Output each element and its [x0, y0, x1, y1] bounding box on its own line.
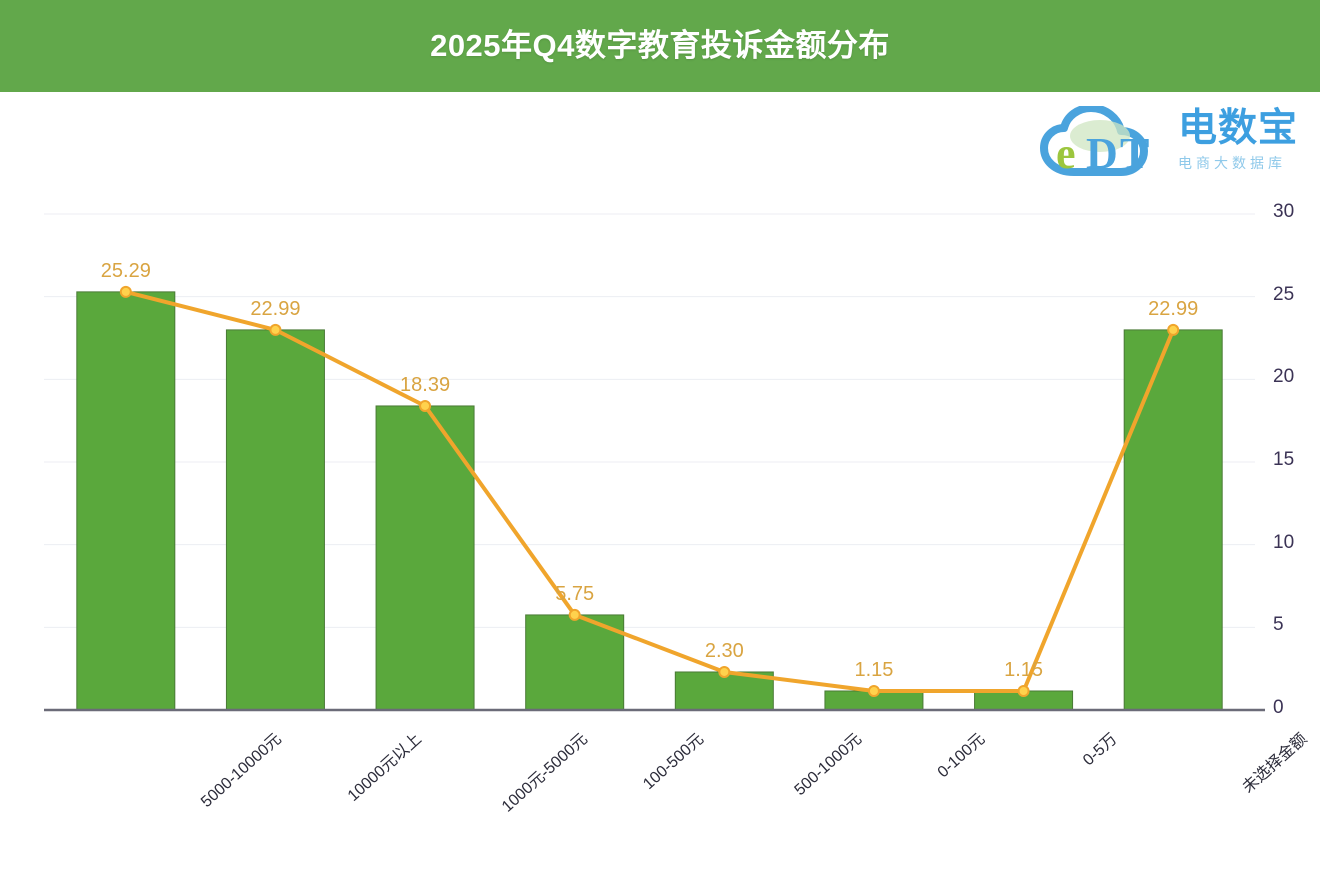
bar-value-label: 25.29 [66, 260, 186, 283]
bar-series [77, 292, 1222, 710]
y-tick-label: 25 [1273, 284, 1294, 306]
bar-value-label: 1.15 [964, 659, 1084, 682]
bar [77, 292, 175, 710]
bar-value-label: 18.39 [365, 374, 485, 397]
bar [1124, 330, 1222, 710]
y-tick-label: 0 [1273, 697, 1284, 719]
bar-value-label: 2.30 [664, 640, 784, 663]
chart-svg [0, 92, 1320, 826]
chart-page: 2025年Q4数字教育投诉金额分布 e D T 电数宝 电商大数据库 05101… [0, 0, 1320, 896]
line-marker [270, 325, 280, 335]
line-marker [121, 287, 131, 297]
page-title: 2025年Q4数字教育投诉金额分布 [0, 0, 1320, 92]
line-marker [420, 401, 430, 411]
plot-area: 051015202530 5000-10000元10000元以上1000元-50… [0, 92, 1320, 826]
y-tick-label: 20 [1273, 366, 1294, 388]
header-band: 2025年Q4数字教育投诉金额分布 [0, 0, 1320, 92]
line-marker [1019, 686, 1029, 696]
y-tick-label: 5 [1273, 614, 1284, 636]
line-marker [570, 610, 580, 620]
bar-value-label: 22.99 [1113, 298, 1233, 321]
bar-value-label: 22.99 [215, 298, 335, 321]
gridlines [44, 214, 1255, 710]
y-tick-label: 30 [1273, 201, 1294, 223]
line-marker [719, 667, 729, 677]
y-tick-label: 10 [1273, 532, 1294, 554]
line-marker [869, 686, 879, 696]
line-marker [1168, 325, 1178, 335]
bar-value-label: 1.15 [814, 659, 934, 682]
bar-value-label: 5.75 [515, 583, 635, 606]
y-tick-label: 15 [1273, 449, 1294, 471]
bar [226, 330, 324, 710]
